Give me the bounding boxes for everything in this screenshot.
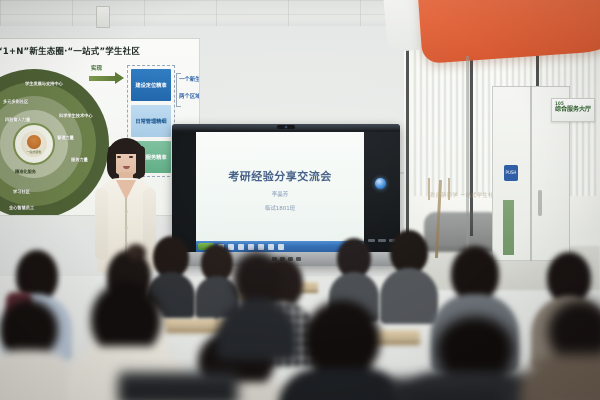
- student: [222, 252, 292, 348]
- power-indicator-icon[interactable]: [375, 178, 386, 189]
- ring-label-10: 全心智慧员工: [9, 205, 34, 211]
- student-head: [548, 300, 600, 362]
- poster-box-2: 日常管理精细: [131, 105, 171, 137]
- arrow-body: [89, 76, 117, 81]
- window-blind: [414, 46, 470, 196]
- student-torso: [217, 298, 297, 360]
- student-torso: [520, 354, 600, 400]
- ring-core: 一站式服务: [21, 131, 47, 157]
- cardigan-button: [125, 226, 128, 229]
- door-post: [466, 56, 469, 261]
- poster-side-notes: 一个新生态圈 两个区域集群: [179, 75, 200, 109]
- ring-label-11: 精准化服务: [15, 169, 36, 175]
- taskbar-icon[interactable]: [238, 244, 244, 250]
- wall-speaker: [96, 6, 110, 28]
- sign-divider: [555, 108, 591, 109]
- side-note-1: 一个新生态圈: [179, 75, 200, 83]
- student-head: [304, 300, 380, 378]
- ring-label-8: 服务力量: [71, 157, 88, 163]
- chair-back: [118, 372, 238, 400]
- taskbar-icon[interactable]: [268, 244, 274, 250]
- presenter-vneck: [116, 180, 136, 200]
- arrow-head-icon: [115, 72, 124, 84]
- taskbar-icon[interactable]: [258, 244, 264, 250]
- core-label: 一站式服务: [26, 150, 41, 154]
- window-mullion: [406, 36, 409, 236]
- photo-scene: 欢迎新同学 一站式学生社区 PUSH 105 综合服务大厅 “1+N”新生态圈·…: [0, 0, 600, 400]
- poster-title: “1+N”新生态圈·“一站式”学生社区: [0, 45, 197, 57]
- ring-label-4: 四股育人力量: [5, 117, 30, 123]
- room-sign: 105 综合服务大厅: [551, 98, 595, 122]
- ring-label-3: 多元多彩社区: [3, 99, 28, 105]
- poster-box-1: 建设定位精准: [131, 69, 171, 101]
- implement-arrow: 实现: [89, 71, 127, 85]
- hair-bun: [126, 244, 146, 262]
- window-mullion: [470, 36, 473, 236]
- display-left-bezel: [172, 132, 196, 252]
- push-plate-icon: PUSH: [504, 165, 518, 181]
- cardigan-button: [125, 242, 128, 245]
- door-handle[interactable]: [538, 190, 542, 216]
- slide-title: 考研经验分享交流会: [196, 168, 364, 184]
- taskbar-icon[interactable]: [248, 244, 254, 250]
- presenter-eye: [129, 156, 133, 158]
- presenter-hair-left: [108, 146, 116, 176]
- cardigan-button: [125, 210, 128, 213]
- arrow-label: 实现: [91, 64, 102, 72]
- ring-label-0: 学生发展与支持中心: [25, 81, 63, 87]
- ring-label-7: 管理力量: [57, 135, 74, 141]
- ring-label-9: 学习社区: [13, 189, 30, 195]
- door-split-line: [530, 86, 532, 261]
- presenter-hair-right: [136, 146, 145, 178]
- core-avatar-icon: [27, 135, 41, 149]
- chair-back: [390, 378, 500, 400]
- side-note-2: 两个区域集群: [179, 92, 200, 100]
- presenter-eye: [117, 156, 121, 158]
- taskbar-icon[interactable]: [278, 244, 284, 250]
- student: [0, 300, 72, 400]
- student: [530, 300, 600, 400]
- ring-label-2: 科学学生技术中心: [59, 113, 93, 119]
- ecosystem-ring-diagram: 一站式服务 学生发展与支持中心 学生事务服务中心 科学学生技术中心 多元多彩社区…: [0, 69, 109, 216]
- student: [286, 300, 398, 400]
- slide-presenter-name: 李晶芳: [196, 190, 364, 200]
- camera-icon: [277, 125, 295, 129]
- slide-presenter-class: 临试1801班: [196, 204, 364, 214]
- student-head: [91, 282, 161, 356]
- projected-slide: 考研经验分享交流会 李晶芳 临试1801班: [196, 132, 364, 252]
- student-torso: [278, 368, 406, 400]
